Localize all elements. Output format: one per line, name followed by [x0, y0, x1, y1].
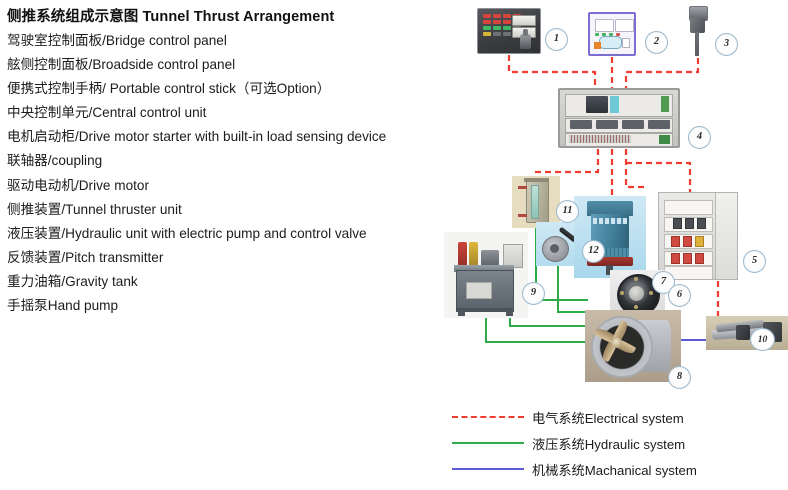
starter-contactor-2 [685, 218, 694, 229]
pitch-transmitter [706, 316, 788, 350]
starter-relay-2 [683, 236, 692, 247]
legend-label-electrical: 电气系统Electrical system [532, 408, 684, 427]
badge-3: 3 [715, 33, 738, 56]
mechanical-line-swatch [452, 468, 524, 470]
badge-8: 8 [668, 366, 691, 389]
starter-contactor-1 [673, 218, 682, 229]
portable-control-stick [685, 6, 711, 58]
diagram-page: 侧推系统组成示意图 Tunnel Thrust Arrangement 驾驶室控… [0, 0, 788, 490]
list-item-1: 驾驶室控制面板/Bridge control panel [7, 29, 459, 53]
tank-nozzle-bottom [518, 214, 527, 217]
legend-row-hydraulic: 液压系统Hydraulic system [452, 430, 782, 456]
starter-rail-1 [664, 200, 713, 215]
central-control-unit [558, 88, 680, 148]
starter-relay-1 [671, 236, 680, 247]
ccu-green-terminal [659, 135, 670, 144]
hydraulic-filter-yellow [469, 242, 478, 266]
broadside-orange-button [594, 42, 601, 49]
list-item-8: 侧推装置/Tunnel thruster unit [7, 198, 459, 222]
hydraulic-line-swatch [452, 442, 524, 444]
legend-row-electrical: 电气系统Electrical system [452, 404, 782, 430]
pump-hub [550, 244, 559, 253]
badge-12: 12 [582, 240, 605, 263]
drive-motor [574, 196, 646, 278]
hydraulic-unit [444, 232, 528, 318]
starter-relay-3 [695, 236, 704, 247]
legend-row-mechanical: 机械系统Machanical system [452, 456, 782, 482]
motor-vents [593, 218, 627, 224]
propeller-hub [612, 338, 622, 348]
badge-4: 4 [688, 126, 711, 149]
list-item-2: 舷侧控制面板/Broadside control panel [7, 53, 459, 77]
list-item-12: 手摇泵Hand pump [7, 294, 459, 318]
panel-joystick [520, 34, 531, 49]
list-item-10: 反馈装置/Pitch transmitter [7, 246, 459, 270]
badge-2: 2 [645, 31, 668, 54]
hydraulic-filter-red [458, 242, 467, 266]
ccu-green-module [661, 96, 669, 112]
starter-relay-5 [683, 253, 692, 264]
list-item-6: 联轴器/coupling [7, 149, 459, 173]
badge-6: 6 [668, 284, 691, 307]
list-item-4: 中央控制单元/Central control unit [7, 101, 459, 125]
badge-9: 9 [522, 282, 545, 305]
broadside-display-left [595, 19, 614, 32]
legend-label-hydraulic: 液压系统Hydraulic system [532, 434, 685, 453]
gravity-tank [512, 176, 560, 228]
ccu-terminal-strip [569, 135, 631, 143]
ccu-shelf-top [565, 94, 673, 117]
component-list: 侧推系统组成示意图 Tunnel Thrust Arrangement 驾驶室控… [7, 6, 459, 318]
electric-pump [481, 250, 499, 266]
badge-11: 11 [556, 200, 579, 223]
hydraulic-leg-left [458, 310, 465, 316]
list-item-5: 电机启动柜/Drive motor starter with built-in … [7, 125, 459, 149]
list-item-9: 液压装置/Hydraulic unit with electric pump a… [7, 222, 459, 246]
tank-sight-glass [531, 185, 539, 219]
badge-5: 5 [743, 250, 766, 273]
plc-module-secondary [610, 96, 619, 113]
electrical-line-swatch [452, 416, 524, 418]
transmitter-joint [736, 325, 750, 340]
broadside-display-right [615, 19, 634, 32]
ccu-breaker-4 [648, 120, 670, 129]
plc-module [586, 96, 608, 113]
coupling-bolt-4 [620, 291, 624, 295]
starter-door [715, 193, 737, 279]
list-item-3: 便携式控制手柄/ Portable control stick（可选Option… [7, 77, 459, 101]
hydraulic-nameplate [466, 282, 492, 299]
coupling-bolt-3 [634, 305, 638, 309]
stick-body [690, 18, 705, 33]
starter-relay-6 [695, 253, 704, 264]
broadside-side-button [622, 38, 630, 48]
broadside-control-panel [588, 12, 636, 56]
tank-nozzle-top [518, 186, 527, 189]
ccu-breaker-2 [596, 120, 618, 129]
coupling-bolt-1 [634, 277, 638, 281]
list-item-11: 重力油箱/Gravity tank [7, 270, 459, 294]
starter-relay-4 [671, 253, 680, 264]
ccu-breaker-1 [570, 120, 592, 129]
list-item-7: 驱动电动机/Drive motor [7, 174, 459, 198]
stick-cord [695, 32, 699, 56]
legend-label-mechanical: 机械系统Machanical system [532, 460, 697, 479]
coupling-hub [629, 286, 644, 301]
starter-contactor-3 [697, 218, 706, 229]
panel-display-top [512, 15, 536, 26]
drive-motor-starter [658, 192, 738, 280]
page-title: 侧推系统组成示意图 Tunnel Thrust Arrangement [7, 6, 459, 29]
bridge-control-panel [477, 8, 541, 54]
badge-1: 1 [545, 28, 568, 51]
systems-legend: 电气系统Electrical system 液压系统Hydraulic syst… [452, 404, 782, 482]
ccu-breaker-3 [622, 120, 644, 129]
hydraulic-leg-right [506, 310, 513, 316]
badge-10: 10 [750, 328, 775, 351]
broadside-control-knob [599, 36, 622, 49]
coupling-bolt-2 [649, 291, 653, 295]
tunnel-thruster-unit [585, 310, 681, 382]
